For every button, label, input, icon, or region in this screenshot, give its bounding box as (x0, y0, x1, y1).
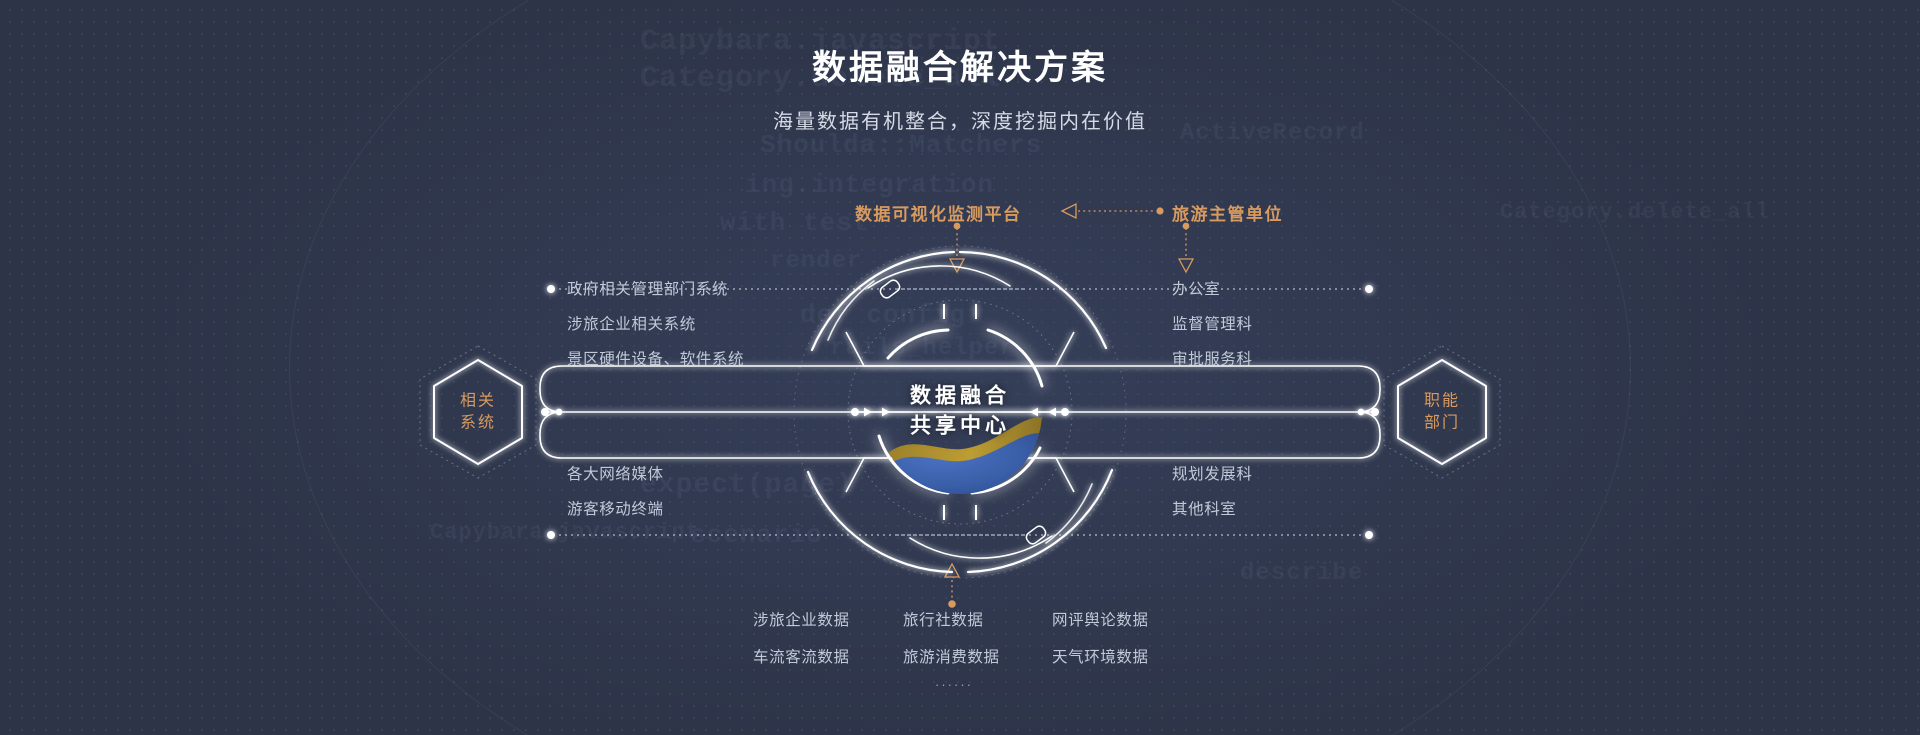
left-item-mobile-terminal[interactable]: 游客移动终端 (567, 497, 664, 519)
bottom-item-weather-data[interactable]: 天气环境数据 (1052, 645, 1149, 667)
right-hex-label: 职能 部门 (1378, 390, 1506, 433)
left-hex-line1: 相关 (414, 390, 542, 412)
bottom-item-opinion-data[interactable]: 网评舆论数据 (1052, 608, 1149, 630)
left-item-gov-systems[interactable]: 政府相关管理部门系统 (567, 277, 728, 299)
infographic-canvas: Capybara.javascriptCategory.delete_allSh… (0, 0, 1920, 735)
hub-label-line1: 数据融合 (750, 382, 1170, 412)
right-item-supervision[interactable]: 监督管理科 (1172, 312, 1253, 334)
top-node-tourism-authority[interactable]: 旅游主管单位 (1172, 200, 1283, 225)
left-hex-label: 相关 系统 (414, 390, 542, 433)
bottom-item-consumption-data[interactable]: 旅游消费数据 (903, 645, 1000, 667)
right-hex-line2: 部门 (1378, 412, 1506, 434)
bottom-item-enterprise-data[interactable]: 涉旅企业数据 (753, 608, 850, 630)
right-hex-functional-departments[interactable]: 职能 部门 (1378, 342, 1506, 482)
right-item-planning[interactable]: 规划发展科 (1172, 462, 1253, 484)
top-node-visualization-platform[interactable]: 数据可视化监测平台 (855, 200, 1022, 225)
left-hex-line2: 系统 (414, 412, 542, 434)
right-item-office[interactable]: 办公室 (1172, 277, 1220, 299)
hub-label: 数据融合 共享中心 (750, 382, 1170, 443)
hub-node: 数据融合 共享中心 (750, 202, 1170, 622)
left-item-tourism-enterprise[interactable]: 涉旅企业相关系统 (567, 312, 696, 334)
hub-label-line2: 共享中心 (750, 412, 1170, 442)
left-item-scenic-hardware[interactable]: 景区硬件设备、软件系统 (567, 347, 744, 369)
left-item-network-media[interactable]: 各大网络媒体 (567, 462, 664, 484)
bottom-item-traffic-data[interactable]: 车流客流数据 (753, 645, 850, 667)
right-item-approval-service[interactable]: 审批服务科 (1172, 347, 1253, 369)
bottom-ellipsis: ······ (935, 677, 973, 692)
bottom-item-agency-data[interactable]: 旅行社数据 (903, 608, 984, 630)
right-hex-line1: 职能 (1378, 390, 1506, 412)
left-hex-related-systems[interactable]: 相关 系统 (414, 342, 542, 482)
right-item-other-offices[interactable]: 其他科室 (1172, 497, 1236, 519)
